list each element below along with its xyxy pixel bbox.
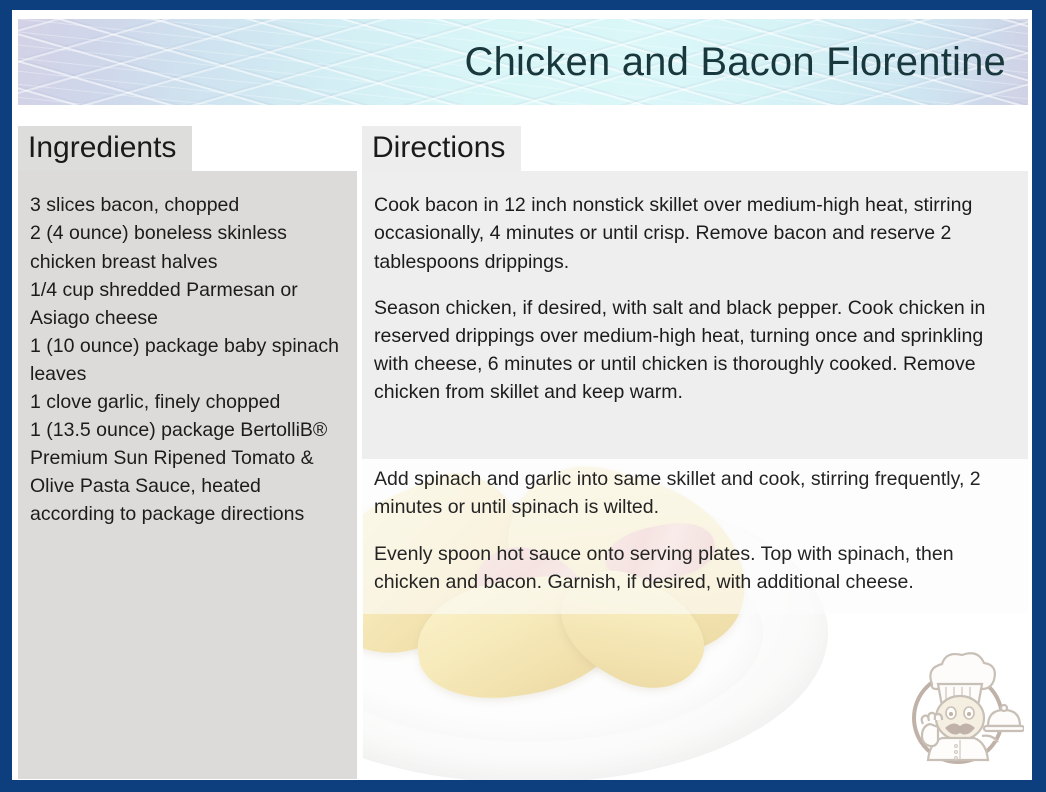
directions-steps-lower: Add spinach and garlic into same skillet… bbox=[362, 459, 1028, 613]
direction-step: Evenly spoon hot sauce onto serving plat… bbox=[374, 540, 1014, 596]
ingredient-item: 3 slices bacon, chopped bbox=[30, 191, 343, 219]
ingredient-item: 1/4 cup shredded Parmesan or Asiago chee… bbox=[30, 276, 343, 332]
ingredients-list: 3 slices bacon, chopped 2 (4 ounce) bone… bbox=[18, 171, 357, 779]
ingredient-item: 1 (10 ounce) package baby spinach leaves bbox=[30, 332, 343, 388]
directions-heading: Directions bbox=[362, 126, 521, 171]
directions-steps-upper: Cook bacon in 12 inch nonstick skillet o… bbox=[362, 171, 1028, 459]
ingredients-panel: Ingredients 3 slices bacon, chopped 2 (4… bbox=[18, 126, 357, 780]
title-banner: Chicken and Bacon Florentine bbox=[18, 19, 1028, 105]
ingredient-item: 1 clove garlic, finely chopped bbox=[30, 388, 343, 416]
direction-step: Add spinach and garlic into same skillet… bbox=[374, 465, 1014, 521]
directions-panel: Directions Cook bacon in 12 inch nonstic… bbox=[362, 126, 1028, 780]
recipe-title: Chicken and Bacon Florentine bbox=[465, 40, 1006, 84]
ingredients-heading: Ingredients bbox=[18, 126, 192, 171]
ingredient-item: 1 (13.5 ounce) package BertolliB® Premiu… bbox=[30, 416, 343, 528]
frame-border-right bbox=[1032, 0, 1046, 792]
frame-border-bottom bbox=[0, 780, 1046, 792]
direction-step: Season chicken, if desired, with salt an… bbox=[374, 294, 1014, 406]
frame-border-top bbox=[0, 0, 1046, 10]
frame-border-left bbox=[0, 0, 12, 792]
direction-step: Cook bacon in 12 inch nonstick skillet o… bbox=[374, 191, 1014, 275]
ingredient-item: 2 (4 ounce) boneless skinless chicken br… bbox=[30, 219, 343, 275]
recipe-card-slide: Chicken and Bacon Florentine Ingredients… bbox=[0, 0, 1046, 792]
